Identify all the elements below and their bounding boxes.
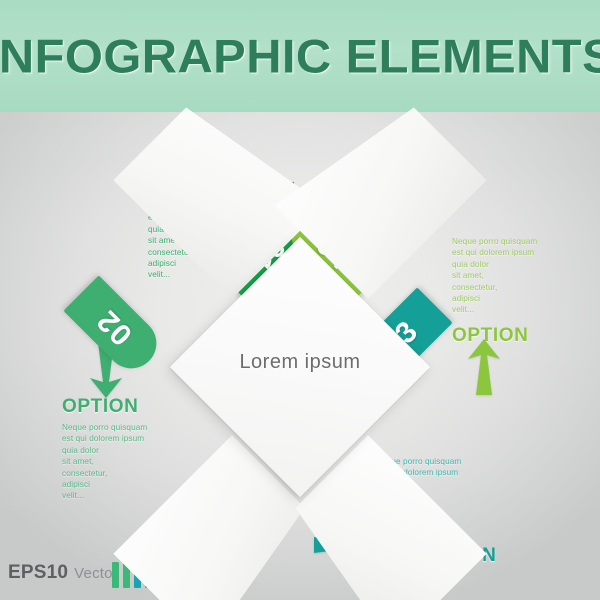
header-band: INFOGRAPHIC ELEMENTS xyxy=(0,0,600,112)
option-body-line: adipisci xyxy=(452,293,572,304)
option-body-line: Neque porro quisquam xyxy=(452,236,572,247)
page-title: INFOGRAPHIC ELEMENTS xyxy=(0,29,600,84)
option-body-line: est qui dolorem ipsum xyxy=(452,247,572,258)
option-body-line: consectetur, xyxy=(62,468,174,479)
option-body-line: quia dolor xyxy=(62,445,174,456)
option-body-line: velit... xyxy=(452,304,572,315)
option-body-line: adipisci xyxy=(62,479,174,490)
option-body-line: est qui dolorem ipsum xyxy=(62,433,174,444)
eps-label: EPS10 xyxy=(8,562,68,584)
option-block-02: OPTION Neque porro quisquam est qui dolo… xyxy=(62,396,174,502)
infographic-canvas: INFOGRAPHIC ELEMENTS OPTION Neque porro … xyxy=(0,0,600,600)
option-body-line: consectetur, xyxy=(452,282,572,293)
arrow-up-icon xyxy=(466,339,502,395)
footer: EPS10 Vector xyxy=(8,562,118,584)
option-body-line: Neque porro quisquam xyxy=(62,422,174,433)
option-body-04: Neque porro quisquam est qui dolorem ips… xyxy=(452,236,572,316)
option-body-line: sit amet, xyxy=(62,456,174,467)
option-title-02: OPTION xyxy=(62,396,174,418)
option-body-line: quia dolor xyxy=(452,259,572,270)
center-label: Lorem ipsum xyxy=(190,351,410,374)
option-body-line: velit... xyxy=(62,490,174,501)
option-body-line: sit amet, xyxy=(452,270,572,281)
page-title-text: INFOGRAPHIC ELEMENTS xyxy=(0,29,600,84)
logo-bar xyxy=(112,562,119,588)
option-body-02: Neque porro quisquam est qui dolorem ips… xyxy=(62,422,174,502)
option-block-04: Neque porro quisquam est qui dolorem ips… xyxy=(452,236,572,347)
